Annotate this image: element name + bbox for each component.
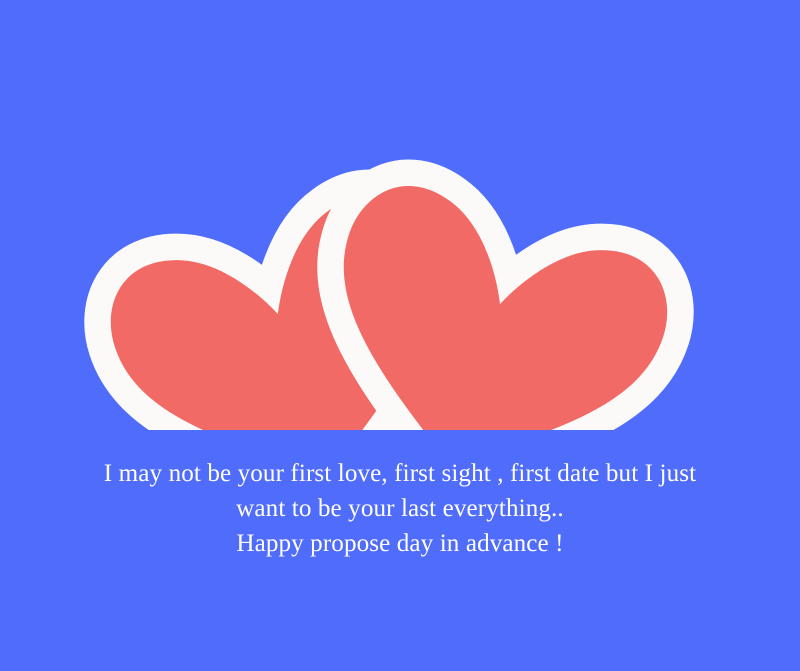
message-line-2: want to be your last everything.. [6,490,794,525]
hearts-illustration [0,0,800,430]
greeting-card: I may not be your first love, first sigh… [0,0,800,671]
message-line-1: I may not be your first love, first sigh… [6,455,794,490]
message-line-3: Happy propose day in advance ! [6,525,794,560]
message-block: I may not be your first love, first sigh… [0,455,800,560]
